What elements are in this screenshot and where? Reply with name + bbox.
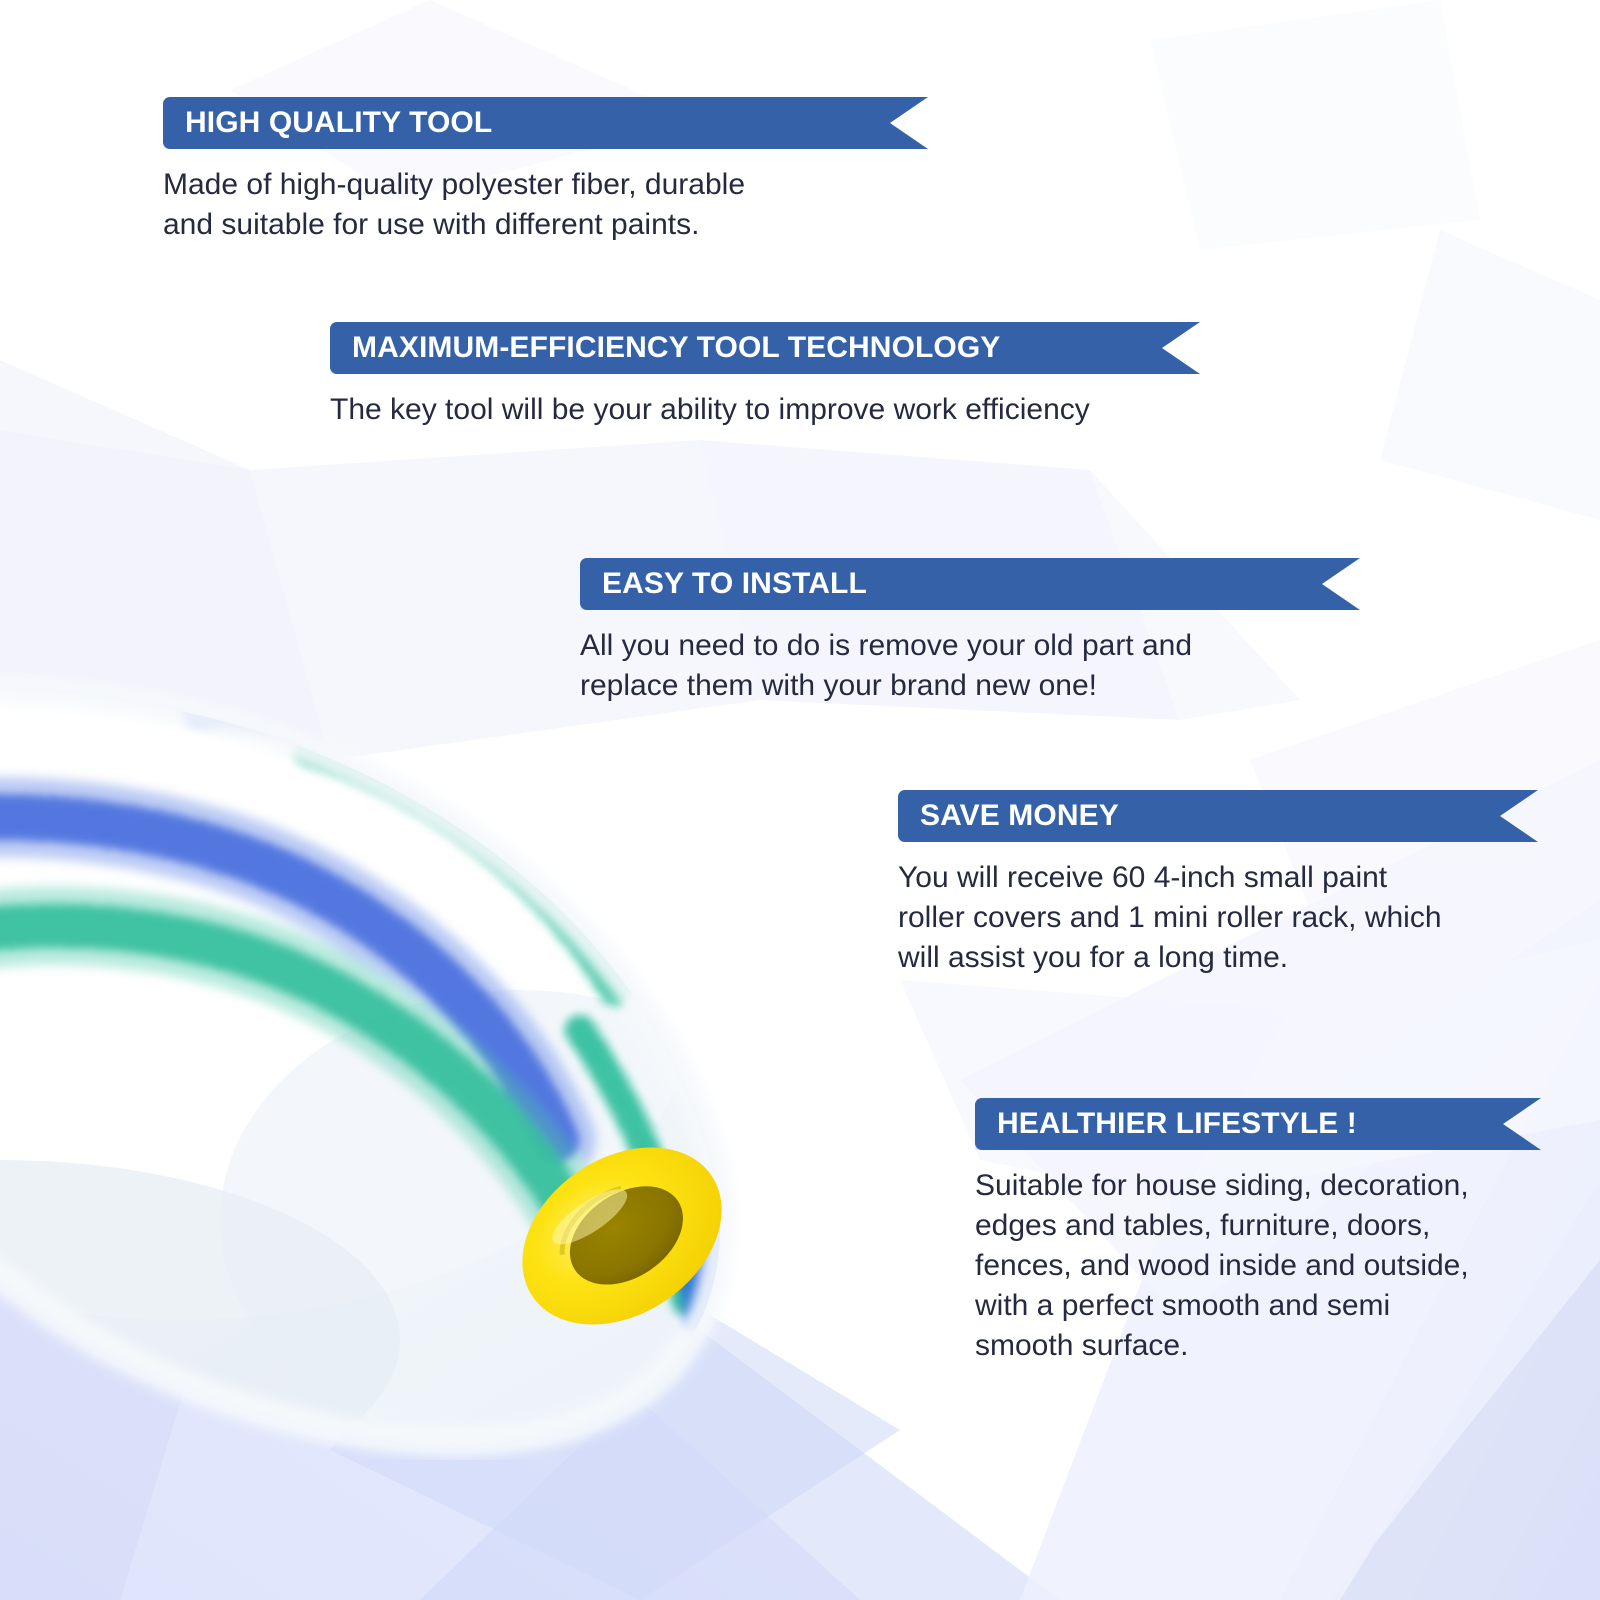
- feature-body-save-money: You will receive 60 4-inch small paint r…: [898, 858, 1538, 978]
- feature-body-healthier-lifestyle: Suitable for house siding, decoration, e…: [975, 1166, 1541, 1365]
- banner-high-quality-tool: HIGH QUALITY TOOL: [163, 97, 928, 149]
- feature-save-money: SAVE MONEY You will receive 60 4-inch sm…: [898, 790, 1538, 978]
- banner-label-high-quality-tool: HIGH QUALITY TOOL: [185, 108, 492, 138]
- banner-label-healthier-lifestyle: HEALTHIER LIFESTYLE !: [997, 1109, 1357, 1139]
- feature-body-easy-to-install: All you need to do is remove your old pa…: [580, 626, 1360, 706]
- feature-body-high-quality-tool: Made of high-quality polyester fiber, du…: [163, 165, 928, 245]
- feature-high-quality-tool: HIGH QUALITY TOOL Made of high-quality p…: [163, 97, 928, 245]
- banner-label-save-money: SAVE MONEY: [920, 801, 1119, 831]
- banner-easy-to-install: EASY TO INSTALL: [580, 558, 1360, 610]
- banner-label-easy-to-install: EASY TO INSTALL: [602, 569, 867, 599]
- feature-easy-to-install: EASY TO INSTALL All you need to do is re…: [580, 558, 1360, 706]
- banner-healthier-lifestyle: HEALTHIER LIFESTYLE !: [975, 1098, 1541, 1150]
- banner-save-money: SAVE MONEY: [898, 790, 1538, 842]
- feature-body-maximum-efficiency: The key tool will be your ability to imp…: [330, 390, 1200, 430]
- banner-label-maximum-efficiency: MAXIMUM-EFFICIENCY TOOL TECHNOLOGY: [352, 333, 1000, 363]
- feature-healthier-lifestyle: HEALTHIER LIFESTYLE ! Suitable for house…: [975, 1098, 1541, 1365]
- banner-maximum-efficiency: MAXIMUM-EFFICIENCY TOOL TECHNOLOGY: [330, 322, 1200, 374]
- feature-maximum-efficiency-tool-technology: MAXIMUM-EFFICIENCY TOOL TECHNOLOGY The k…: [330, 322, 1200, 430]
